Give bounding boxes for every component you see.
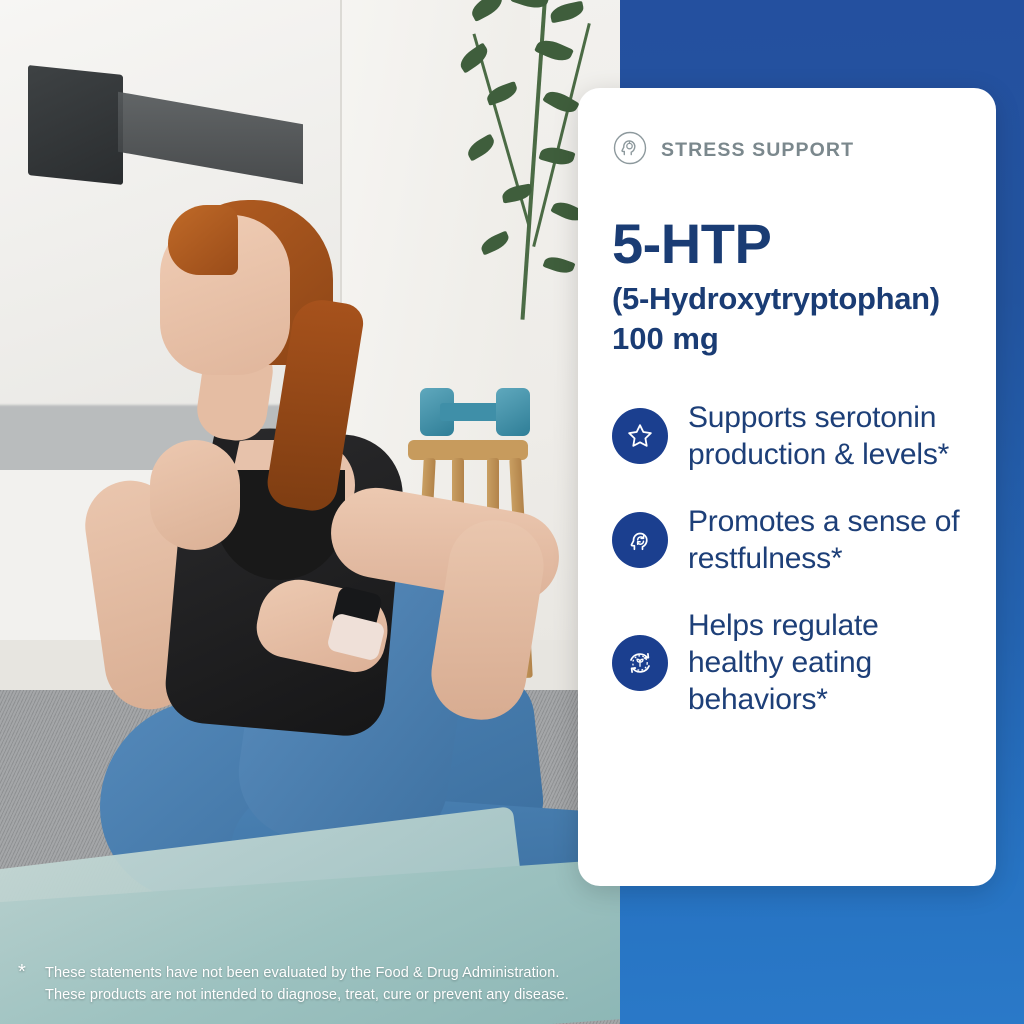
benefit-item: Helps regulate healthy eating behaviors* bbox=[612, 607, 966, 718]
product-dose: 100 mg bbox=[612, 319, 966, 359]
lifestyle-photo bbox=[0, 0, 620, 1024]
ad-canvas: * These statements have not been evaluat… bbox=[0, 0, 1024, 1024]
product-name: 5-HTP bbox=[612, 215, 966, 273]
disclaimer-line-2: These products are not intended to diagn… bbox=[45, 984, 618, 1006]
photo-tv bbox=[28, 65, 123, 185]
category-label: STRESS SUPPORT bbox=[661, 139, 854, 162]
benefit-text: Supports serotonin production & levels* bbox=[688, 399, 966, 473]
disclaimer-line-1: These statements have not been evaluated… bbox=[45, 962, 618, 984]
product-info-card: STRESS SUPPORT 5-HTP (5-Hydroxytryptopha… bbox=[578, 88, 996, 886]
benefit-text: Promotes a sense of restfulness* bbox=[688, 503, 966, 577]
category-eyebrow: STRESS SUPPORT bbox=[612, 130, 966, 171]
benefit-text: Helps regulate healthy eating behaviors* bbox=[688, 607, 966, 718]
disclaimer-asterisk: * bbox=[18, 962, 26, 982]
benefit-item: Supports serotonin production & levels* bbox=[612, 399, 966, 473]
head-refresh-icon bbox=[612, 512, 668, 568]
photo-person-hair-front bbox=[168, 205, 238, 275]
head-profile-icon bbox=[612, 130, 648, 171]
benefit-item: Promotes a sense of restfulness* bbox=[612, 503, 966, 577]
photo-dumbbell-right bbox=[496, 388, 530, 436]
disclaimer: * These statements have not been evaluat… bbox=[18, 962, 618, 1006]
product-chemical-name: (5-Hydroxytryptophan) bbox=[612, 279, 966, 319]
star-icon bbox=[612, 408, 668, 464]
photo-person-shoulder bbox=[150, 440, 240, 550]
sprout-cycle-icon bbox=[612, 635, 668, 691]
